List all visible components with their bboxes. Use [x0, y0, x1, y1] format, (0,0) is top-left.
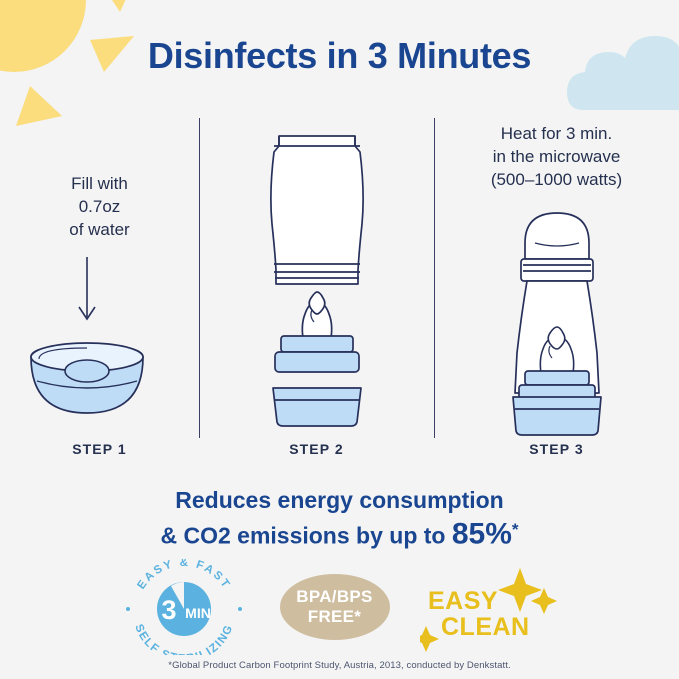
assembled-bottle-icon — [457, 197, 657, 447]
badge-easy-clean-line-2: CLEAN — [428, 614, 530, 640]
step-3-illustration — [434, 197, 679, 447]
step-3-caption-line-2: in the microwave — [434, 145, 679, 168]
step-3-label: STEP 3 — [434, 441, 679, 457]
badge-bpa-line-1: BPA/BPS — [296, 587, 372, 607]
step-1-illustration — [0, 249, 199, 419]
bowl-icon — [15, 249, 185, 419]
claim-line-2: & CO2 emissions by up to 85%* — [0, 515, 679, 551]
step-3-caption-line-3: (500–1000 watts) — [434, 168, 679, 191]
claim-asterisk: * — [512, 520, 519, 539]
claim-percentage: 85% — [452, 518, 512, 551]
claim-line-2-prefix: & CO2 emissions by up to — [160, 523, 451, 549]
badge-bpa-free: BPA/BPS FREE* — [277, 569, 392, 645]
step-1-caption-line-3: of water — [0, 218, 199, 241]
badge-row: EASY & FAST SELF STERILIZING 3 MIN BPA/B… — [0, 562, 679, 652]
step-3-caption-line-1: Heat for 3 min. — [434, 122, 679, 145]
step-1-caption-line-1: Fill with — [0, 172, 199, 195]
badge-3min: EASY & FAST SELF STERILIZING 3 MIN — [119, 559, 249, 655]
step-1-column: Fill with 0.7oz of water STEP 1 — [0, 112, 199, 419]
step-2-label: STEP 2 — [199, 441, 434, 457]
badge-3min-number: 3 — [161, 595, 176, 625]
page-title: Disinfects in 3 Minutes — [0, 35, 679, 77]
bottle-parts-icon — [217, 112, 417, 432]
infographic-canvas: Disinfects in 3 Minutes Fill with 0.7oz … — [0, 0, 679, 679]
step-1-label: STEP 1 — [0, 441, 199, 457]
step-3-caption: Heat for 3 min. in the microwave (500–10… — [434, 112, 679, 191]
step-1-caption: Fill with 0.7oz of water — [0, 112, 199, 241]
step-2-illustration — [199, 112, 434, 432]
badge-easy-clean-line-1: EASY — [428, 588, 530, 614]
badge-3min-unit: MIN — [185, 605, 211, 621]
badge-bpa-line-2: FREE* — [308, 607, 361, 627]
step-2-column: STEP 2 — [199, 112, 434, 432]
step-3-column: Heat for 3 min. in the microwave (500–10… — [434, 112, 679, 447]
badge-easy-clean: EASY CLEAN — [420, 562, 560, 652]
claim-line-1: Reduces energy consumption — [0, 485, 679, 515]
step-1-caption-line-2: 0.7oz — [0, 195, 199, 218]
badge-easy-clean-text: EASY CLEAN — [428, 588, 530, 640]
claim-text: Reduces energy consumption & CO2 emissio… — [0, 485, 679, 551]
footnote: *Global Product Carbon Footprint Study, … — [0, 660, 679, 671]
